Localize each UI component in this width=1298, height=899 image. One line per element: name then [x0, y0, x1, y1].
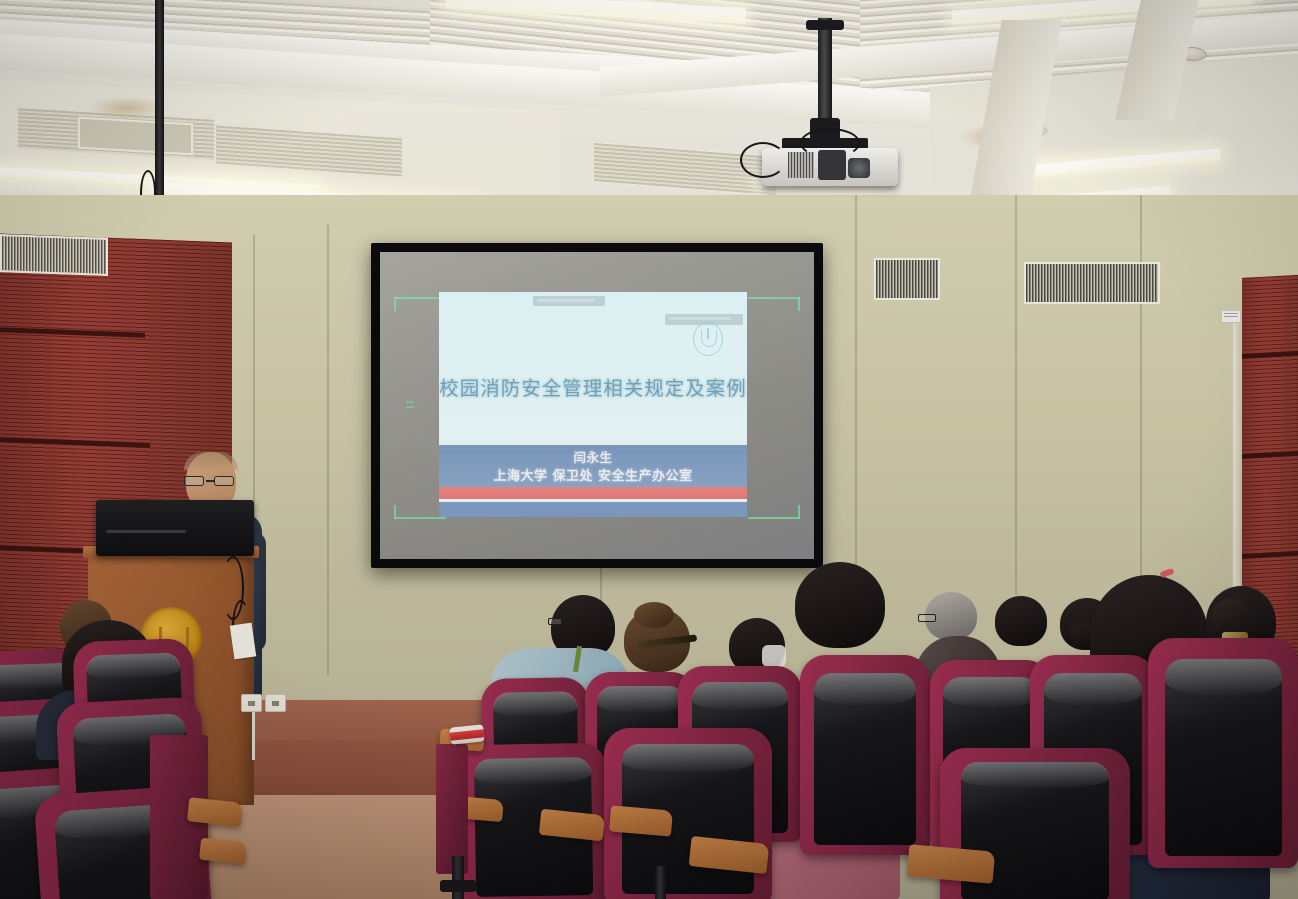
seat-highlight — [814, 673, 915, 705]
presenter-glasses — [184, 476, 204, 486]
seat-highlight — [1165, 659, 1282, 696]
presenter-glasses-bridge — [206, 480, 214, 482]
seat-side-panel — [436, 744, 468, 874]
slide-accent-band — [439, 502, 747, 517]
audience-head — [795, 562, 885, 648]
face-mask — [762, 645, 786, 667]
wall-panel-seam — [855, 195, 857, 595]
seat-highlight — [961, 762, 1109, 788]
seat-highlight — [622, 744, 753, 772]
alignment-marker — [406, 406, 414, 408]
confidence-monitor — [96, 500, 254, 556]
air-conditioning-vent — [874, 258, 940, 300]
seat-highlight — [473, 757, 590, 785]
seat-armrest — [907, 844, 995, 883]
auditorium-seat[interactable] — [800, 655, 930, 855]
seat-floor-mount — [440, 880, 476, 892]
hair-bun — [634, 602, 674, 628]
water-bottle-on-armrest[interactable] — [449, 724, 485, 744]
projector-mount-bracket — [806, 20, 844, 30]
wall-panel-seam — [1140, 195, 1142, 595]
alignment-marker — [394, 517, 446, 519]
seat-highlight — [493, 691, 578, 716]
audience-glasses — [918, 614, 936, 622]
seat-highlight — [692, 682, 789, 710]
slide-title: 校园消防安全管理相关规定及案例 — [439, 372, 747, 401]
seat-highlight — [1044, 673, 1142, 705]
projector-cable — [800, 128, 860, 158]
paper-handout — [230, 623, 257, 660]
wall-power-outlet[interactable] — [265, 694, 286, 712]
slide-affiliation: 上海大学 保卫处 安全生产办公室 — [439, 465, 747, 484]
projection-screen: 校园消防安全管理相关规定及案例 闫永生 上海大学 保卫处 安全生产办公室 — [371, 243, 823, 568]
projector-vent-grille — [788, 152, 814, 178]
air-conditioning-vent — [1024, 262, 1160, 304]
alignment-marker — [798, 297, 800, 311]
audience-glasses — [548, 618, 562, 625]
auditorium-seat[interactable] — [1148, 638, 1298, 868]
seat-armrest — [609, 805, 673, 836]
shanghai-university-logo-icon — [693, 322, 723, 356]
wall-panel-seam — [1015, 195, 1017, 595]
alignment-marker — [394, 505, 396, 519]
projector-cable — [740, 142, 786, 178]
alignment-marker — [406, 401, 414, 403]
air-conditioning-vent — [0, 234, 108, 276]
projector-lens — [848, 158, 870, 178]
alignment-marker — [394, 297, 396, 311]
lecture-hall-photo: 校园消防安全管理相关规定及案例 闫永生 上海大学 保卫处 安全生产办公室 — [0, 0, 1298, 899]
slide-accent-band — [439, 487, 747, 499]
seat-support-post — [452, 856, 464, 899]
projection-screen-surface: 校园消防安全管理相关规定及案例 闫永生 上海大学 保卫处 安全生产办公室 — [380, 252, 814, 559]
alignment-marker — [798, 505, 800, 519]
wall-conduit — [1233, 318, 1240, 618]
audience-head — [995, 596, 1047, 646]
seat-support-post — [655, 866, 666, 899]
seat-armrest — [199, 838, 247, 865]
wall-panel-seam — [327, 225, 329, 675]
alignment-marker — [748, 517, 800, 519]
slide-presenter: 闫永生 — [439, 447, 747, 466]
wall-control-panel — [1221, 310, 1241, 323]
hair-bun — [1212, 598, 1252, 636]
presenter-glasses — [214, 476, 234, 486]
alignment-marker — [748, 297, 800, 299]
presenter-hair — [184, 452, 238, 470]
seat-highlight — [597, 686, 684, 712]
outlet-conduit — [252, 712, 255, 760]
presentation-slide: 校园消防安全管理相关规定及案例 闫永生 上海大学 保卫处 安全生产办公室 — [439, 292, 747, 517]
wall-power-outlet[interactable] — [241, 694, 262, 712]
powerpoint-toolbar-overlay[interactable] — [533, 296, 605, 306]
seat-highlight — [943, 677, 1038, 707]
air-conditioning-vent — [78, 117, 193, 156]
seat-highlight — [86, 652, 180, 679]
